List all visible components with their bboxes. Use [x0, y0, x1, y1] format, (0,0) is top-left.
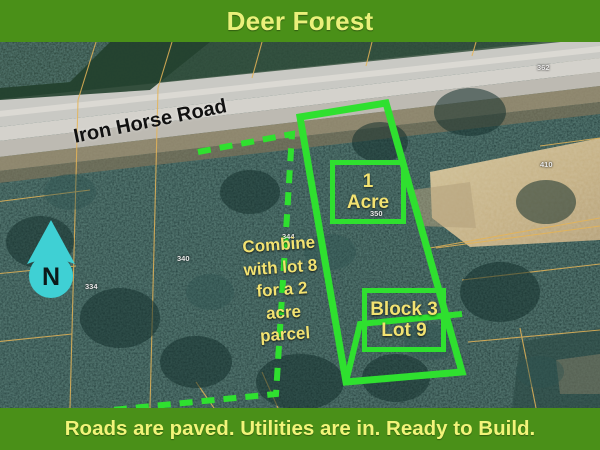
acre-value: 1: [363, 171, 374, 192]
parcel-number: 410: [540, 160, 553, 169]
parcel-number: 362: [537, 63, 550, 72]
parcel-number: 340: [177, 254, 190, 263]
header-banner: Deer Forest: [0, 0, 600, 42]
acre-unit: Acre: [347, 192, 389, 213]
block-lot-callout-box: Block 3 Lot 9: [362, 288, 446, 352]
aerial-map: 362 410 344 350 340 334 Iron Horse Road …: [0, 42, 600, 408]
block-label: Block 3: [370, 299, 438, 320]
footer-tagline: Roads are paved. Utilities are in. Ready…: [65, 417, 536, 441]
page-title: Deer Forest: [227, 6, 374, 37]
listing-image: Deer Forest: [0, 0, 600, 450]
parcel-number: 334: [85, 282, 98, 291]
acre-callout-box: 1 Acre: [330, 160, 406, 224]
compass-label: N: [42, 263, 60, 291]
map-imagery: [0, 42, 600, 408]
lot-label: Lot 9: [381, 320, 426, 341]
north-arrow-icon: N: [20, 218, 82, 300]
footer-banner: Roads are paved. Utilities are in. Ready…: [0, 408, 600, 450]
parcel-number: 344: [282, 232, 295, 241]
